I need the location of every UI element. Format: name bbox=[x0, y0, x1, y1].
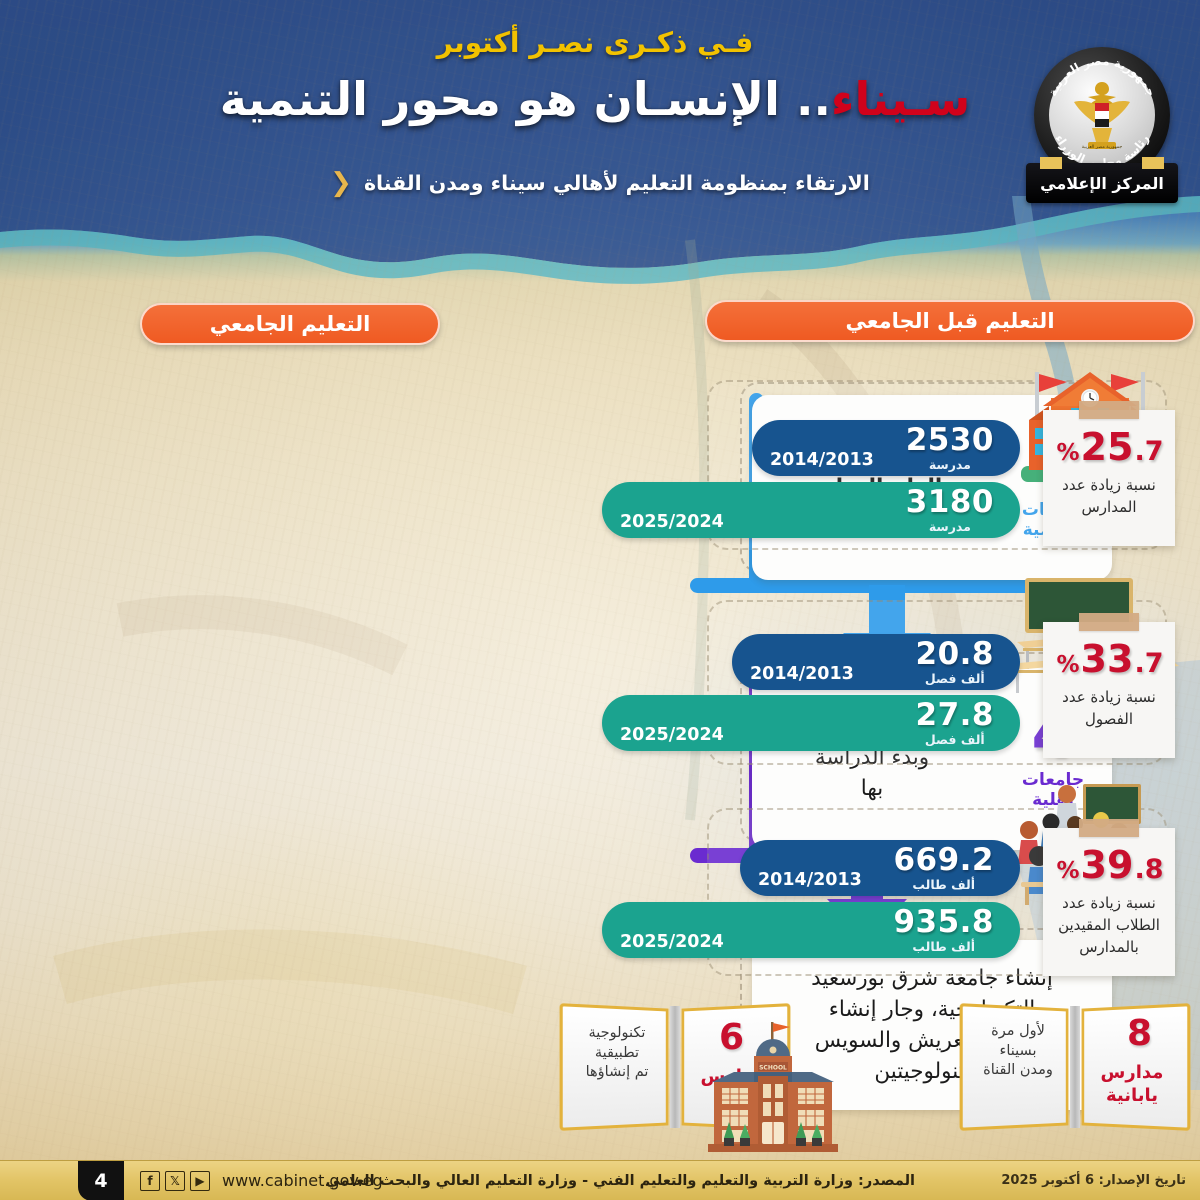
stat-1-growth-card: %25.7 نسبة زيادة عدد المدارس bbox=[1043, 410, 1175, 546]
stat-1-new-value: 3180 bbox=[906, 487, 994, 518]
stat-3-old-value: 669.2 bbox=[893, 845, 994, 876]
book-2-note-line1: تكنولوجية bbox=[566, 1024, 668, 1044]
book-card-japanese-schools: 8 مدارس يابانية لأول مرة بسيناء ومدن الق… bbox=[960, 1000, 1190, 1135]
stat-3-growth-value: %39.8 bbox=[1051, 846, 1167, 884]
section-pill-preuniversity: التعليم قبل الجامعي bbox=[705, 300, 1195, 342]
stat-1-growth-label-line2: المدارس bbox=[1051, 497, 1167, 519]
stat-2-growth-dec: .7 bbox=[1134, 650, 1163, 677]
logo-ribbon: المركز الإعلامي bbox=[1026, 163, 1178, 203]
youtube-icon[interactable]: ▶ bbox=[190, 1171, 210, 1191]
stat-3-growth-label: نسبة زيادة عدد الطلاب المقيدين بالمدارس bbox=[1051, 893, 1167, 958]
footer-source: المصدر: وزارة التربية والتعليم والتعليم … bbox=[326, 1173, 915, 1189]
stat-2-new-value: 27.8 bbox=[916, 700, 995, 731]
stat-3-growth-card: %39.8 نسبة زيادة عدد الطلاب المقيدين بال… bbox=[1043, 828, 1175, 976]
footer-social-links: f 𝕏 ▶ bbox=[140, 1171, 210, 1191]
stat-3-old-year: 2014/2013 bbox=[758, 870, 862, 890]
stat-1-growth-value: %25.7 bbox=[1051, 428, 1167, 466]
page-title-highlight: سـيناء bbox=[831, 72, 970, 126]
stat-3-growth-label-line2: الطلاب المقيدين bbox=[1051, 915, 1167, 937]
book-2-note: تكنولوجية تطبيقية تم إنشاؤها bbox=[566, 1024, 668, 1083]
stat-2-new-value-wrap: 27.8 ألف فصل bbox=[916, 700, 995, 747]
stat-2-new-year: 2025/2024 bbox=[620, 725, 724, 745]
stat-3-growth-label-line1: نسبة زيادة عدد bbox=[1051, 893, 1167, 915]
stat-1-bar-old: 2530 مدرسة 2014/2013 bbox=[752, 420, 1020, 476]
university-card-2-text-line3: بها bbox=[766, 773, 978, 804]
facebook-icon[interactable]: f bbox=[140, 1171, 160, 1191]
page-title-rest: .. الإنسـان هو محور التنمية bbox=[220, 72, 831, 126]
stat-1-old-year: 2014/2013 bbox=[770, 450, 874, 470]
stat-1-old-value-wrap: 2530 مدرسة bbox=[906, 425, 994, 472]
stat-3-bar-new: 935.8 ألف طالب 2025/2024 bbox=[602, 902, 1020, 958]
stat-3-bar-old: 669.2 ألف طالب 2014/2013 bbox=[740, 840, 1020, 896]
stat-2-growth-value: %33.7 bbox=[1051, 640, 1167, 678]
stat-3-new-year: 2025/2024 bbox=[620, 932, 724, 952]
page-number: 4 bbox=[78, 1161, 124, 1200]
book-2-note-line2: تطبيقية bbox=[566, 1044, 668, 1064]
book-1-subtitle-line2: يابانية bbox=[1086, 1085, 1178, 1108]
stat-1-growth-label-line1: نسبة زيادة عدد bbox=[1051, 475, 1167, 497]
subtitle-row: الارتقاء بمنظومة التعليم لأهالي سيناء وم… bbox=[170, 170, 1030, 196]
stat-2-growth-label-line1: نسبة زيادة عدد bbox=[1051, 687, 1167, 709]
stat-2-growth-int: 33 bbox=[1081, 640, 1134, 678]
book-1-spine bbox=[1070, 1006, 1080, 1128]
stat-1-new-value-wrap: 3180 مدرسة bbox=[906, 487, 994, 534]
stat-2-bar-new: 27.8 ألف فصل 2025/2024 bbox=[602, 695, 1020, 751]
stat-2-tape-icon bbox=[1079, 613, 1139, 631]
book-1-number: 8 bbox=[1127, 1016, 1152, 1052]
stat-3-old-unit: ألف طالب bbox=[912, 879, 975, 892]
stat-3-new-unit: ألف طالب bbox=[912, 941, 975, 954]
stat-2-percent-sign: % bbox=[1057, 654, 1080, 677]
stat-1-growth-label: نسبة زيادة عدد المدارس bbox=[1051, 475, 1167, 519]
logo-ribbon-label: المركز الإعلامي bbox=[1040, 174, 1164, 193]
school-building-3d-icon: SCHOOL bbox=[698, 1020, 848, 1160]
stat-3-growth-int: 39 bbox=[1081, 846, 1134, 884]
svg-text:جمهورية مصر العربية: جمهورية مصر العربية bbox=[1082, 145, 1123, 150]
section-pill-university: التعليم الجامعي bbox=[140, 303, 440, 345]
stat-2-bar-old: 20.8 ألف فصل 2014/2013 bbox=[732, 634, 1020, 690]
book-1-subtitle-line1: مدارس bbox=[1086, 1062, 1178, 1085]
stat-2-growth-label-line2: الفصول bbox=[1051, 709, 1167, 731]
stat-1-new-year: 2025/2024 bbox=[620, 512, 724, 532]
book-1-note-line2: بسيناء bbox=[968, 1042, 1068, 1062]
cabinet-logo: جمهورية مصر العربية رئاسة مجلس الوزراء ج… bbox=[1022, 42, 1182, 207]
stat-1-tape-icon bbox=[1079, 401, 1139, 419]
stat-2-growth-card: %33.7 نسبة زيادة عدد الفصول bbox=[1043, 622, 1175, 758]
book-2-spine bbox=[670, 1006, 680, 1128]
book-1-note-line3: ومدن القناة bbox=[968, 1061, 1068, 1081]
svg-text:SCHOOL: SCHOOL bbox=[759, 1065, 787, 1072]
stat-1-growth-int: 25 bbox=[1081, 428, 1134, 466]
footer-website[interactable]: www.cabinet.gov.eg bbox=[222, 1171, 383, 1190]
header-subtitle: الارتقاء بمنظومة التعليم لأهالي سيناء وم… bbox=[364, 171, 870, 195]
chevron-left-icon: ❮ bbox=[330, 170, 352, 196]
header-kicker: فـي ذكـرى نصـر أكتوبر bbox=[180, 26, 1010, 59]
stat-3-new-value: 935.8 bbox=[893, 907, 994, 938]
book-1-note: لأول مرة بسيناء ومدن القناة bbox=[968, 1022, 1068, 1081]
stat-1-percent-sign: % bbox=[1057, 442, 1080, 465]
stat-3-growth-dec: .8 bbox=[1134, 856, 1163, 883]
book-2-note-line3: تم إنشاؤها bbox=[566, 1063, 668, 1083]
stat-3-growth-label-line3: بالمدارس bbox=[1051, 937, 1167, 959]
stat-2-new-unit: ألف فصل bbox=[925, 734, 985, 747]
stat-3-new-value-wrap: 935.8 ألف طالب bbox=[893, 907, 994, 954]
stat-2-old-value: 20.8 bbox=[916, 639, 995, 670]
stat-1-growth-dec: .7 bbox=[1134, 438, 1163, 465]
stat-2-old-year: 2014/2013 bbox=[750, 664, 854, 684]
stat-2-growth-label: نسبة زيادة عدد الفصول bbox=[1051, 687, 1167, 731]
stat-2-old-unit: ألف فصل bbox=[925, 673, 985, 686]
footer-release-date: تاريخ الإصدار: 6 أكتوبر 2025 bbox=[1001, 1173, 1186, 1188]
stat-3-old-value-wrap: 669.2 ألف طالب bbox=[893, 845, 994, 892]
stat-1-old-unit: مدرسة bbox=[929, 459, 971, 472]
page-title: سـيناء.. الإنسـان هو محور التنمية bbox=[150, 72, 1040, 126]
stat-1-new-unit: مدرسة bbox=[929, 521, 971, 534]
footer: تاريخ الإصدار: 6 أكتوبر 2025 المصدر: وزا… bbox=[0, 1160, 1200, 1200]
header: فـي ذكـرى نصـر أكتوبر سـيناء.. الإنسـان … bbox=[0, 0, 1200, 250]
x-twitter-icon[interactable]: 𝕏 bbox=[165, 1171, 185, 1191]
stat-3-percent-sign: % bbox=[1057, 860, 1080, 883]
stat-3-tape-icon bbox=[1079, 819, 1139, 837]
stat-2-old-value-wrap: 20.8 ألف فصل bbox=[916, 639, 995, 686]
eagle-of-saladin-icon: جمهورية مصر العربية bbox=[1066, 76, 1138, 154]
infographic-root: فـي ذكـرى نصـر أكتوبر سـيناء.. الإنسـان … bbox=[0, 0, 1200, 1200]
stat-1-bar-new: 3180 مدرسة 2025/2024 bbox=[602, 482, 1020, 538]
stat-1-old-value: 2530 bbox=[906, 425, 994, 456]
book-1-note-line1: لأول مرة bbox=[968, 1022, 1068, 1042]
book-1-subtitle: مدارس يابانية bbox=[1086, 1062, 1178, 1107]
